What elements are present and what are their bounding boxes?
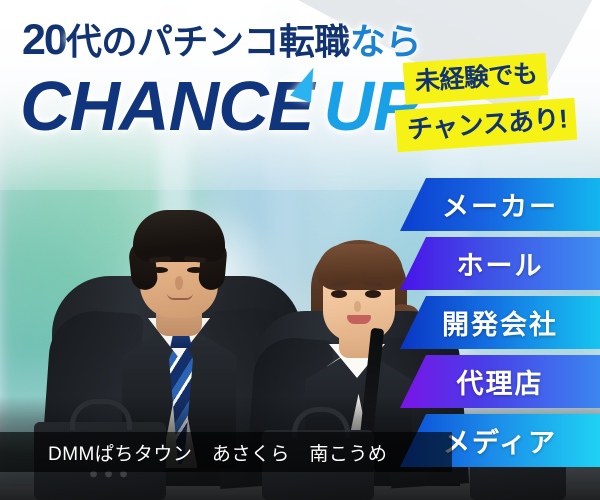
badge-line-2: チャンスあり! bbox=[395, 98, 578, 152]
category-button-maker[interactable]: メーカー bbox=[400, 178, 600, 231]
banner-ad[interactable]: 20代のパチンコ転職なら CHANCEUP 未経験でも チャンスあり! メーカー… bbox=[0, 0, 600, 500]
category-button-hall[interactable]: ホール bbox=[400, 237, 600, 290]
category-label: メディア bbox=[443, 421, 557, 460]
category-button-developer[interactable]: 開発会社 bbox=[400, 296, 600, 349]
headline-number: 20 bbox=[22, 16, 66, 64]
category-label: 代理店 bbox=[457, 362, 544, 401]
credit-band: DMMぱちタウン あさくら 南こうめ bbox=[0, 432, 452, 472]
logo-chance-up: CHANCEUP bbox=[20, 64, 420, 148]
badge-no-experience: 未経験でも チャンスあり! bbox=[396, 56, 600, 156]
headline: 20代のパチンコ転職なら bbox=[22, 18, 452, 62]
credit-text: DMMぱちタウン あさくら 南こうめ bbox=[48, 439, 387, 466]
logo-word-chance: CHANCE bbox=[20, 67, 313, 145]
headline-main: 代のパチンコ転職 bbox=[66, 21, 350, 62]
category-button-list: メーカー ホール 開発会社 代理店 メディア bbox=[400, 178, 600, 473]
category-label: メーカー bbox=[442, 185, 558, 224]
badge-line-1: 未経験でも bbox=[403, 53, 548, 105]
category-label: 開発会社 bbox=[442, 303, 558, 342]
category-button-agency[interactable]: 代理店 bbox=[400, 355, 600, 408]
category-label: ホール bbox=[457, 244, 544, 283]
